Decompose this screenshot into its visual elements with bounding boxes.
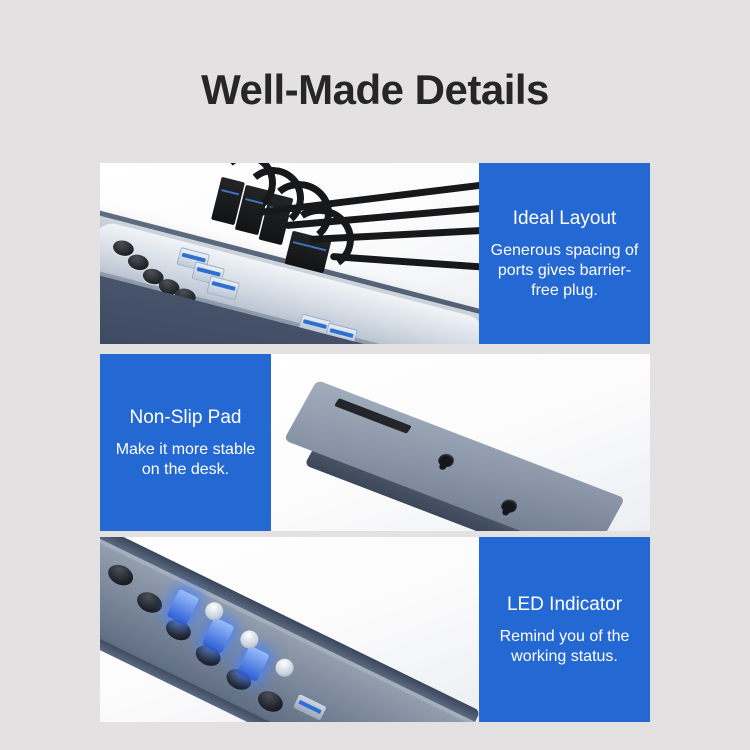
product-feature-infographic: Well-Made Details (0, 0, 750, 750)
port-knob-icon (202, 599, 226, 623)
caption-title: LED Indicator (507, 593, 622, 617)
port-knob-icon (237, 627, 261, 651)
product-photo-non-slip-pad (271, 354, 650, 531)
feature-row-non-slip-pad: Non-Slip Pad Make it more stable on the … (100, 354, 650, 531)
product-photo-ideal-layout (100, 163, 479, 344)
page-title: Well-Made Details (0, 64, 750, 116)
rubber-strip-icon (334, 398, 412, 434)
caption-body: Make it more stable on the desk. (106, 440, 265, 480)
feature-row-led-indicator: LED Indicator Remind you of the working … (100, 537, 650, 722)
caption-title: Non-Slip Pad (130, 406, 242, 430)
caption-body: Generous spacing of ports gives barrier-… (485, 241, 644, 301)
hub-body-angled-icon (100, 537, 479, 722)
power-button-icon (105, 561, 137, 589)
mounting-slot-icon (499, 497, 519, 514)
caption-title: Ideal Layout (513, 207, 617, 231)
port-knob-icon (273, 656, 297, 680)
caption-panel-non-slip-pad: Non-Slip Pad Make it more stable on the … (100, 354, 271, 531)
power-button-icon (255, 687, 287, 715)
usb-cable-run-icon (330, 253, 479, 272)
power-button-icon (134, 588, 166, 616)
caption-panel-ideal-layout: Ideal Layout Generous spacing of ports g… (479, 163, 650, 344)
caption-panel-led-indicator: LED Indicator Remind you of the working … (479, 537, 650, 722)
usb-port-icon (293, 694, 327, 721)
caption-body: Remind you of the working status. (485, 627, 644, 667)
feature-row-ideal-layout: Ideal Layout Generous spacing of ports g… (100, 163, 650, 344)
product-photo-led-indicator (100, 537, 479, 722)
mounting-slot-icon (436, 452, 456, 469)
